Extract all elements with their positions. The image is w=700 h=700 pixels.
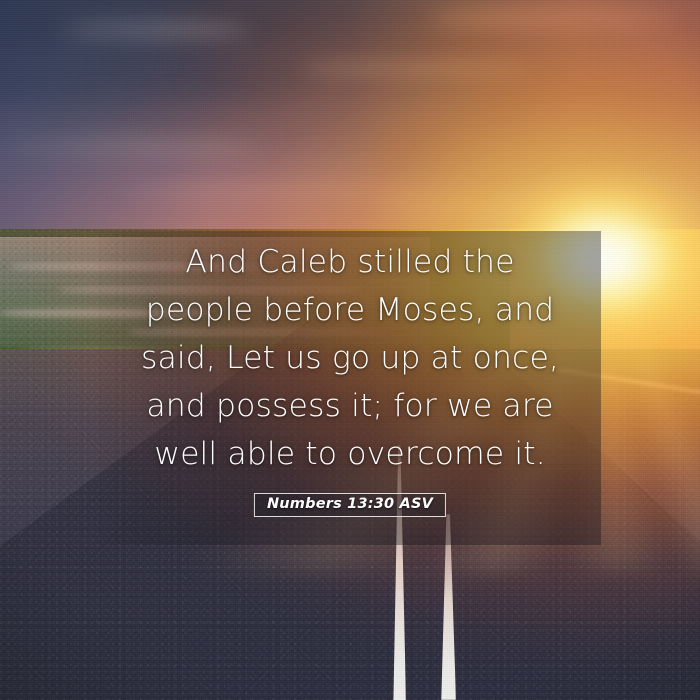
verse-text: And Caleb stilled the people before Mose… <box>60 238 640 478</box>
verse-citation: Numbers 13:30 ASV <box>254 493 446 517</box>
verse-image-canvas: And Caleb stilled the people before Mose… <box>0 0 700 700</box>
